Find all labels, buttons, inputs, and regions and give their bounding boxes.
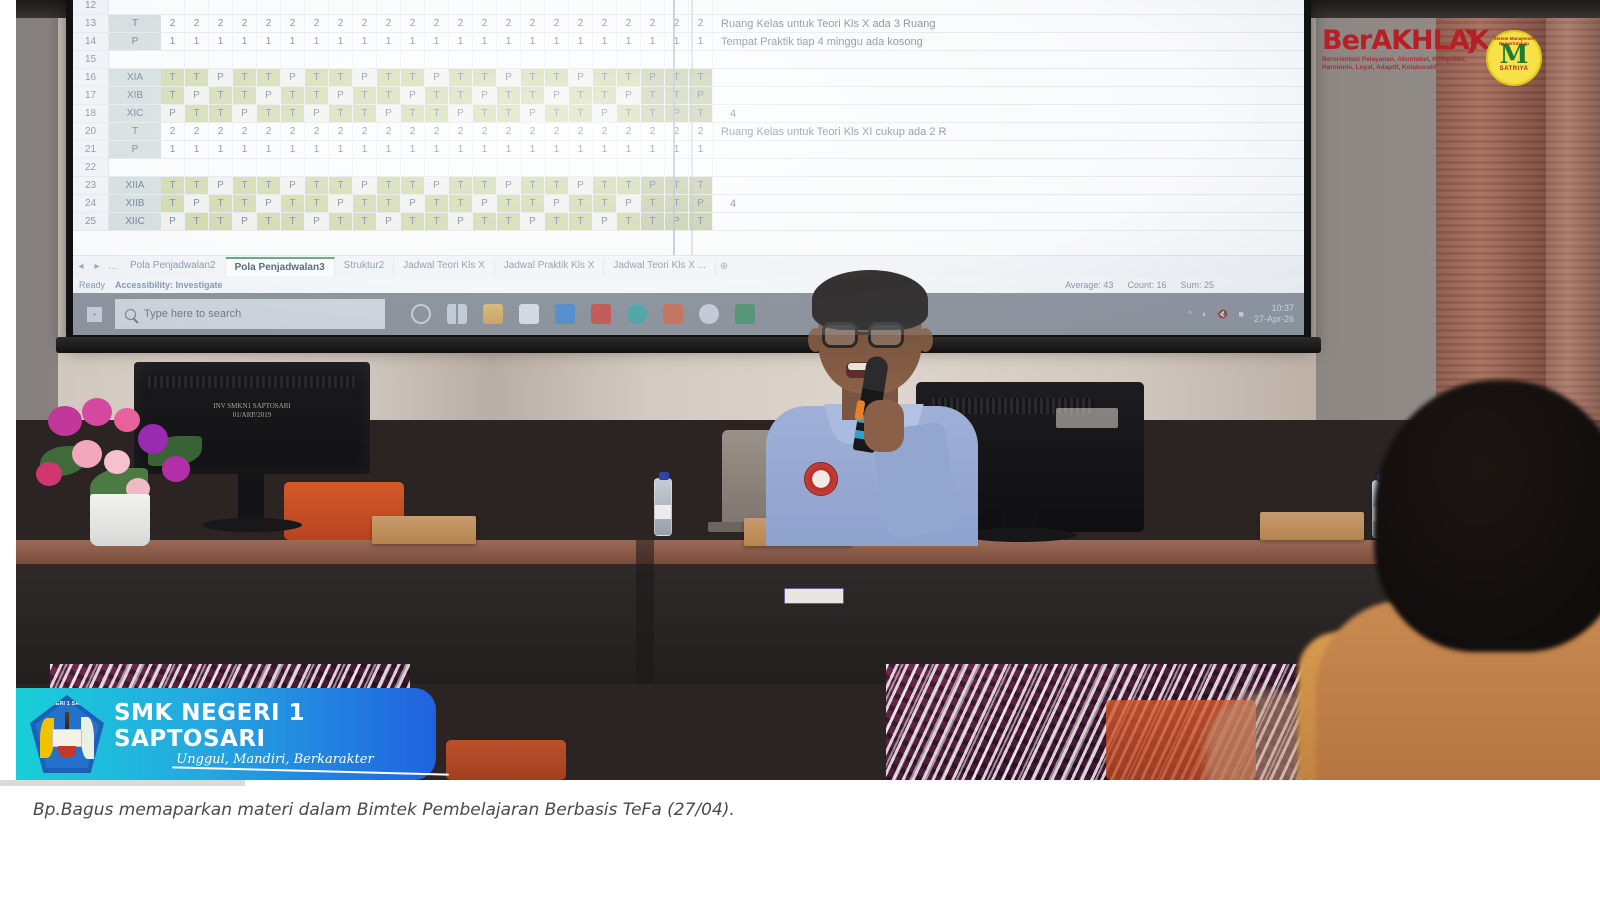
- excel-cell[interactable]: [401, 51, 425, 68]
- excel-row-label[interactable]: XIIA: [109, 177, 161, 194]
- excel-cell[interactable]: P: [497, 177, 521, 194]
- excel-row[interactable]: 12: [73, 0, 1304, 15]
- battery-icon[interactable]: ■: [1239, 309, 1244, 319]
- excel-cell[interactable]: T: [425, 105, 449, 122]
- excel-cell[interactable]: [641, 159, 665, 176]
- excel-cell[interactable]: T: [161, 195, 185, 212]
- excel-cell[interactable]: 2: [545, 15, 569, 32]
- excel-cell[interactable]: [593, 0, 617, 14]
- excel-cell[interactable]: T: [497, 195, 521, 212]
- excel-cell[interactable]: 1: [665, 33, 689, 50]
- excel-cell[interactable]: P: [185, 87, 209, 104]
- excel-cell[interactable]: P: [209, 177, 233, 194]
- excel-cell[interactable]: [497, 51, 521, 68]
- excel-cell[interactable]: T: [185, 177, 209, 194]
- edge-browser-icon[interactable]: [627, 304, 647, 324]
- excel-cell[interactable]: [377, 159, 401, 176]
- excel-cell[interactable]: T: [425, 87, 449, 104]
- excel-cell[interactable]: T: [401, 213, 425, 230]
- excel-cell[interactable]: 1: [257, 141, 281, 158]
- excel-cell[interactable]: [209, 0, 233, 14]
- excel-cell[interactable]: T: [353, 87, 377, 104]
- excel-cell[interactable]: T: [569, 87, 593, 104]
- excel-cell[interactable]: P: [185, 195, 209, 212]
- excel-cell[interactable]: P: [401, 87, 425, 104]
- excel-cell[interactable]: P: [161, 213, 185, 230]
- excel-cell[interactable]: T: [449, 195, 473, 212]
- excel-cell[interactable]: [209, 51, 233, 68]
- excel-cell[interactable]: T: [521, 195, 545, 212]
- excel-cell[interactable]: T: [209, 213, 233, 230]
- excel-cell[interactable]: T: [641, 213, 665, 230]
- excel-icon[interactable]: [735, 304, 755, 324]
- excel-cell[interactable]: P: [569, 177, 593, 194]
- excel-row-number[interactable]: 22: [73, 159, 109, 176]
- excel-cell[interactable]: 2: [209, 15, 233, 32]
- excel-cell[interactable]: P: [377, 213, 401, 230]
- excel-cell[interactable]: T: [377, 195, 401, 212]
- excel-cell[interactable]: 1: [425, 141, 449, 158]
- excel-cell[interactable]: P: [257, 87, 281, 104]
- excel-cell[interactable]: 2: [593, 15, 617, 32]
- excel-cell[interactable]: T: [329, 213, 353, 230]
- excel-cell[interactable]: T: [233, 87, 257, 104]
- excel-cell[interactable]: T: [569, 105, 593, 122]
- excel-cell[interactable]: T: [161, 87, 185, 104]
- excel-cell[interactable]: T: [617, 69, 641, 86]
- excel-cell[interactable]: 1: [377, 141, 401, 158]
- excel-cell[interactable]: T: [161, 177, 185, 194]
- excel-row-number[interactable]: 25: [73, 213, 109, 230]
- excel-cell[interactable]: [569, 159, 593, 176]
- excel-row-label[interactable]: T: [109, 15, 161, 32]
- excel-cell[interactable]: 1: [401, 141, 425, 158]
- excel-row-label[interactable]: P: [109, 141, 161, 158]
- excel-cell[interactable]: [257, 159, 281, 176]
- excel-row-number[interactable]: 20: [73, 123, 109, 140]
- excel-tail-value[interactable]: 4: [713, 105, 753, 122]
- excel-cell[interactable]: T: [305, 69, 329, 86]
- excel-cell[interactable]: 1: [257, 33, 281, 50]
- excel-cell[interactable]: [545, 0, 569, 14]
- excel-cell[interactable]: [569, 0, 593, 14]
- excel-cell[interactable]: [617, 159, 641, 176]
- excel-row[interactable]: 16XIATTPTTPTTPTTPTTPTTPTTPTT: [73, 69, 1304, 87]
- excel-cell[interactable]: P: [521, 105, 545, 122]
- excel-row[interactable]: 25XIICPTTPTTPTTPTTPTTPTTPTTPT: [73, 213, 1304, 231]
- excel-cell[interactable]: [449, 51, 473, 68]
- excel-cell[interactable]: 2: [209, 123, 233, 140]
- excel-cell[interactable]: T: [281, 213, 305, 230]
- excel-cell[interactable]: 2: [425, 123, 449, 140]
- excel-cell[interactable]: [665, 0, 689, 14]
- excel-row[interactable]: 14P11111111111111111111111Tempat Praktik…: [73, 33, 1304, 51]
- taskbar-search-input[interactable]: Type here to search: [115, 299, 385, 329]
- excel-cell[interactable]: T: [449, 177, 473, 194]
- excel-cell[interactable]: [233, 0, 257, 14]
- sheet-tab[interactable]: Pola Penjadwalan3: [226, 257, 335, 276]
- excel-cell[interactable]: 2: [353, 15, 377, 32]
- excel-cell[interactable]: P: [569, 69, 593, 86]
- sheet-tab[interactable]: Jadwal Teori Kls X ...: [604, 257, 716, 276]
- excel-row[interactable]: 13T22222222222222222222222Ruang Kelas un…: [73, 15, 1304, 33]
- excel-note-text[interactable]: Ruang Kelas untuk Teori Kls X ada 3 Ruan…: [721, 15, 935, 32]
- excel-cell[interactable]: 1: [305, 33, 329, 50]
- excel-cell[interactable]: [329, 51, 353, 68]
- excel-cell[interactable]: P: [473, 87, 497, 104]
- excel-cell[interactable]: T: [353, 105, 377, 122]
- excel-cell[interactable]: 1: [569, 33, 593, 50]
- start-button[interactable]: [73, 293, 115, 335]
- excel-cell[interactable]: T: [497, 213, 521, 230]
- excel-row-number[interactable]: 12: [73, 0, 109, 14]
- excel-row-label[interactable]: XIIC: [109, 213, 161, 230]
- excel-cell[interactable]: P: [209, 69, 233, 86]
- excel-cell[interactable]: P: [665, 213, 689, 230]
- excel-cell[interactable]: 1: [569, 141, 593, 158]
- excel-note-text[interactable]: Tempat Praktik tiap 4 minggu ada kosong: [721, 33, 923, 50]
- excel-cell[interactable]: T: [401, 105, 425, 122]
- excel-cell[interactable]: T: [161, 69, 185, 86]
- excel-cell[interactable]: T: [185, 213, 209, 230]
- excel-cell[interactable]: T: [233, 177, 257, 194]
- excel-cell[interactable]: [425, 159, 449, 176]
- taskbar-pinned-icons[interactable]: [411, 304, 755, 324]
- excel-cell[interactable]: [377, 51, 401, 68]
- whatsapp-icon[interactable]: [699, 304, 719, 324]
- excel-cell[interactable]: T: [473, 213, 497, 230]
- excel-cell[interactable]: T: [617, 213, 641, 230]
- excel-cell[interactable]: 1: [233, 141, 257, 158]
- taskbar-clock[interactable]: 10:37 27-Apr-26: [1254, 303, 1294, 325]
- excel-cell[interactable]: T: [377, 69, 401, 86]
- excel-cell[interactable]: T: [353, 195, 377, 212]
- status-accessibility-label[interactable]: Accessibility: Investigate: [115, 280, 223, 290]
- excel-cell[interactable]: 2: [233, 15, 257, 32]
- excel-cell[interactable]: 1: [497, 141, 521, 158]
- excel-cell[interactable]: 1: [521, 33, 545, 50]
- excel-cell[interactable]: [281, 0, 305, 14]
- excel-cell[interactable]: P: [329, 87, 353, 104]
- excel-cell[interactable]: T: [521, 177, 545, 194]
- tray-chevron-up-icon[interactable]: ^: [1188, 309, 1192, 319]
- excel-cell[interactable]: 2: [401, 15, 425, 32]
- excel-cell[interactable]: P: [425, 69, 449, 86]
- excel-cell[interactable]: 1: [281, 141, 305, 158]
- excel-cell[interactable]: T: [641, 195, 665, 212]
- excel-cell[interactable]: 1: [377, 33, 401, 50]
- excel-row-number[interactable]: 15: [73, 51, 109, 68]
- excel-row[interactable]: 23XIIATTPTTPTTPTTPTTPTTPTTPTT: [73, 177, 1304, 195]
- excel-cell[interactable]: P: [281, 177, 305, 194]
- excel-cell[interactable]: P: [473, 195, 497, 212]
- excel-cell[interactable]: [329, 159, 353, 176]
- excel-cell[interactable]: [185, 51, 209, 68]
- task-view-icon[interactable]: [447, 304, 467, 324]
- excel-cell[interactable]: 2: [545, 123, 569, 140]
- excel-cell[interactable]: T: [521, 69, 545, 86]
- excel-cell[interactable]: P: [449, 213, 473, 230]
- excel-cell[interactable]: P: [545, 195, 569, 212]
- excel-cell[interactable]: T: [281, 87, 305, 104]
- excel-cell[interactable]: P: [161, 105, 185, 122]
- excel-cell[interactable]: T: [377, 177, 401, 194]
- excel-cell[interactable]: 1: [161, 141, 185, 158]
- excel-cell[interactable]: T: [449, 69, 473, 86]
- excel-cell[interactable]: [617, 0, 641, 14]
- excel-cell[interactable]: T: [545, 177, 569, 194]
- excel-cell[interactable]: 2: [281, 15, 305, 32]
- excel-cell[interactable]: [353, 0, 377, 14]
- excel-cell[interactable]: [305, 159, 329, 176]
- excel-cell[interactable]: [473, 159, 497, 176]
- excel-cell[interactable]: T: [257, 213, 281, 230]
- excel-row-label[interactable]: XIIB: [109, 195, 161, 212]
- cortana-icon[interactable]: [411, 304, 431, 324]
- excel-cell[interactable]: T: [401, 69, 425, 86]
- excel-cell[interactable]: T: [401, 177, 425, 194]
- excel-cell[interactable]: 1: [185, 33, 209, 50]
- excel-cell[interactable]: 1: [473, 33, 497, 50]
- excel-cell[interactable]: [161, 159, 185, 176]
- excel-cell[interactable]: T: [497, 87, 521, 104]
- excel-cell[interactable]: [185, 159, 209, 176]
- excel-cell[interactable]: [233, 51, 257, 68]
- excel-row[interactable]: 24XIIBTPTTPTTPTTPTTPTTPTTPTTP4: [73, 195, 1304, 213]
- excel-cell[interactable]: 1: [233, 33, 257, 50]
- excel-cell[interactable]: 1: [209, 33, 233, 50]
- powerpoint-icon[interactable]: [663, 304, 683, 324]
- excel-cell[interactable]: 1: [473, 141, 497, 158]
- excel-cell[interactable]: [497, 159, 521, 176]
- excel-cell[interactable]: 2: [161, 123, 185, 140]
- excel-row-label[interactable]: [109, 159, 161, 176]
- excel-cell[interactable]: 1: [305, 141, 329, 158]
- excel-cell[interactable]: P: [521, 213, 545, 230]
- excel-row-number[interactable]: 21: [73, 141, 109, 158]
- excel-cell[interactable]: 1: [329, 141, 353, 158]
- excel-cell[interactable]: T: [545, 69, 569, 86]
- excel-cell[interactable]: 2: [641, 15, 665, 32]
- excel-cell[interactable]: [665, 51, 689, 68]
- excel-row[interactable]: 15: [73, 51, 1304, 69]
- excel-cell[interactable]: T: [665, 177, 689, 194]
- excel-cell[interactable]: [593, 51, 617, 68]
- excel-cell[interactable]: 1: [545, 33, 569, 50]
- excel-row[interactable]: 18XICPTTPTTPTTPTTPTTPTTPTTPT4: [73, 105, 1304, 123]
- excel-cell[interactable]: [593, 159, 617, 176]
- excel-cell[interactable]: T: [305, 87, 329, 104]
- sheet-nav-next-icon[interactable]: ▸: [89, 261, 105, 272]
- excel-cell[interactable]: 2: [617, 123, 641, 140]
- excel-cell[interactable]: 1: [401, 33, 425, 50]
- excel-cell[interactable]: 1: [545, 141, 569, 158]
- excel-cell[interactable]: 1: [449, 141, 473, 158]
- excel-cell[interactable]: 2: [353, 123, 377, 140]
- excel-row-number[interactable]: 16: [73, 69, 109, 86]
- microsoft-store-icon[interactable]: [519, 304, 539, 324]
- excel-cell[interactable]: 2: [281, 123, 305, 140]
- excel-sheet-tabbar[interactable]: ◂ ▸ … Pola Penjadwalan2Pola Penjadwalan3…: [73, 255, 1304, 277]
- excel-cell[interactable]: P: [665, 105, 689, 122]
- excel-cell[interactable]: 2: [593, 123, 617, 140]
- excel-cell[interactable]: T: [545, 213, 569, 230]
- excel-cell[interactable]: 1: [353, 141, 377, 158]
- excel-cell[interactable]: 2: [449, 123, 473, 140]
- excel-cell[interactable]: P: [377, 105, 401, 122]
- excel-cell[interactable]: 2: [569, 15, 593, 32]
- excel-cell[interactable]: P: [641, 177, 665, 194]
- excel-cell[interactable]: 1: [209, 141, 233, 158]
- excel-cell[interactable]: T: [641, 105, 665, 122]
- excel-row-label[interactable]: XIA: [109, 69, 161, 86]
- excel-cell[interactable]: [617, 51, 641, 68]
- excel-row-label[interactable]: [109, 0, 161, 14]
- excel-cell[interactable]: 1: [353, 33, 377, 50]
- excel-cell[interactable]: 2: [521, 15, 545, 32]
- excel-cell[interactable]: T: [665, 87, 689, 104]
- excel-cell[interactable]: P: [305, 213, 329, 230]
- excel-tail-value[interactable]: 4: [713, 195, 753, 212]
- excel-cell[interactable]: P: [641, 69, 665, 86]
- pdf-reader-icon[interactable]: [591, 304, 611, 324]
- excel-cell[interactable]: [449, 159, 473, 176]
- excel-cell[interactable]: T: [329, 69, 353, 86]
- excel-cell[interactable]: [425, 51, 449, 68]
- wifi-icon[interactable]: ◐: [1202, 309, 1207, 319]
- excel-cell[interactable]: [209, 159, 233, 176]
- excel-cell[interactable]: [161, 51, 185, 68]
- excel-cell[interactable]: T: [497, 105, 521, 122]
- excel-cell[interactable]: P: [545, 87, 569, 104]
- excel-cell[interactable]: 1: [617, 33, 641, 50]
- add-sheet-icon[interactable]: ⊕: [716, 261, 732, 272]
- excel-cell[interactable]: T: [233, 195, 257, 212]
- excel-cell[interactable]: 2: [497, 123, 521, 140]
- excel-row-label[interactable]: P: [109, 33, 161, 50]
- excel-cell[interactable]: [569, 51, 593, 68]
- excel-cell[interactable]: T: [593, 69, 617, 86]
- excel-cell[interactable]: T: [329, 105, 353, 122]
- volume-mute-icon[interactable]: 🔇: [1217, 309, 1228, 320]
- sheet-tab[interactable]: Struktur2: [335, 257, 395, 276]
- excel-cell[interactable]: 2: [329, 123, 353, 140]
- excel-cell[interactable]: 2: [473, 123, 497, 140]
- excel-cell[interactable]: 1: [521, 141, 545, 158]
- excel-cell[interactable]: P: [449, 105, 473, 122]
- excel-cell[interactable]: [521, 0, 545, 14]
- excel-cell[interactable]: 2: [305, 15, 329, 32]
- excel-cell[interactable]: [401, 159, 425, 176]
- excel-cell[interactable]: T: [329, 177, 353, 194]
- excel-row-number[interactable]: 23: [73, 177, 109, 194]
- excel-cell[interactable]: [449, 0, 473, 14]
- excel-cell[interactable]: [305, 51, 329, 68]
- excel-cell[interactable]: [377, 0, 401, 14]
- excel-cell[interactable]: 2: [665, 123, 689, 140]
- excel-cell[interactable]: [281, 159, 305, 176]
- excel-cell[interactable]: 1: [185, 141, 209, 158]
- excel-cell[interactable]: 2: [401, 123, 425, 140]
- excel-cell[interactable]: T: [257, 105, 281, 122]
- excel-cell[interactable]: T: [281, 105, 305, 122]
- excel-cell[interactable]: P: [497, 69, 521, 86]
- excel-row-number[interactable]: 18: [73, 105, 109, 122]
- excel-cell[interactable]: 2: [569, 123, 593, 140]
- excel-cell[interactable]: 1: [449, 33, 473, 50]
- excel-cell[interactable]: T: [449, 87, 473, 104]
- excel-cell[interactable]: T: [209, 87, 233, 104]
- excel-cell[interactable]: 1: [665, 141, 689, 158]
- excel-cell[interactable]: 2: [185, 15, 209, 32]
- excel-cell[interactable]: 2: [521, 123, 545, 140]
- excel-cell[interactable]: 1: [593, 33, 617, 50]
- excel-cell[interactable]: T: [185, 69, 209, 86]
- excel-cell[interactable]: T: [305, 195, 329, 212]
- excel-cell[interactable]: 2: [185, 123, 209, 140]
- excel-cell[interactable]: 2: [377, 123, 401, 140]
- excel-row-number[interactable]: 13: [73, 15, 109, 32]
- excel-cell[interactable]: 2: [425, 15, 449, 32]
- excel-cell[interactable]: [353, 51, 377, 68]
- excel-cell[interactable]: [665, 159, 689, 176]
- excel-cell[interactable]: T: [257, 177, 281, 194]
- excel-row-label[interactable]: [109, 51, 161, 68]
- excel-cell[interactable]: P: [233, 105, 257, 122]
- excel-cell[interactable]: T: [473, 69, 497, 86]
- excel-cell[interactable]: [521, 51, 545, 68]
- excel-row[interactable]: 22: [73, 159, 1304, 177]
- excel-cell[interactable]: T: [473, 177, 497, 194]
- excel-cell[interactable]: 1: [281, 33, 305, 50]
- excel-cell[interactable]: P: [593, 213, 617, 230]
- excel-cell[interactable]: T: [425, 195, 449, 212]
- excel-cell[interactable]: [161, 0, 185, 14]
- excel-cell[interactable]: P: [281, 69, 305, 86]
- excel-cell[interactable]: P: [617, 87, 641, 104]
- excel-cell[interactable]: 2: [377, 15, 401, 32]
- excel-cell[interactable]: 2: [257, 123, 281, 140]
- excel-cell[interactable]: P: [329, 195, 353, 212]
- excel-cell[interactable]: P: [233, 213, 257, 230]
- excel-cell[interactable]: T: [593, 87, 617, 104]
- excel-cell[interactable]: T: [569, 195, 593, 212]
- excel-cell[interactable]: [185, 0, 209, 14]
- excel-cell[interactable]: T: [593, 195, 617, 212]
- excel-cell[interactable]: 1: [641, 33, 665, 50]
- excel-cell[interactable]: [353, 159, 377, 176]
- excel-cell[interactable]: 2: [665, 15, 689, 32]
- excel-cell[interactable]: [545, 51, 569, 68]
- excel-cell[interactable]: T: [545, 105, 569, 122]
- excel-cell[interactable]: T: [473, 105, 497, 122]
- excel-note-text[interactable]: Ruang Kelas untuk Teori Kls XI cukup ada…: [721, 123, 946, 140]
- excel-cell[interactable]: P: [617, 195, 641, 212]
- excel-cell[interactable]: 2: [161, 15, 185, 32]
- excel-cell[interactable]: T: [209, 105, 233, 122]
- excel-cell[interactable]: [257, 51, 281, 68]
- excel-cell[interactable]: T: [593, 177, 617, 194]
- excel-cell[interactable]: 2: [329, 15, 353, 32]
- excel-cell[interactable]: P: [353, 177, 377, 194]
- excel-cell[interactable]: 2: [617, 15, 641, 32]
- windows-taskbar[interactable]: Type here to search ^ ◐: [73, 293, 1304, 335]
- excel-row-label[interactable]: XIB: [109, 87, 161, 104]
- excel-cell[interactable]: T: [377, 87, 401, 104]
- excel-cell[interactable]: T: [305, 177, 329, 194]
- excel-cell[interactable]: 1: [617, 141, 641, 158]
- excel-row-label[interactable]: T: [109, 123, 161, 140]
